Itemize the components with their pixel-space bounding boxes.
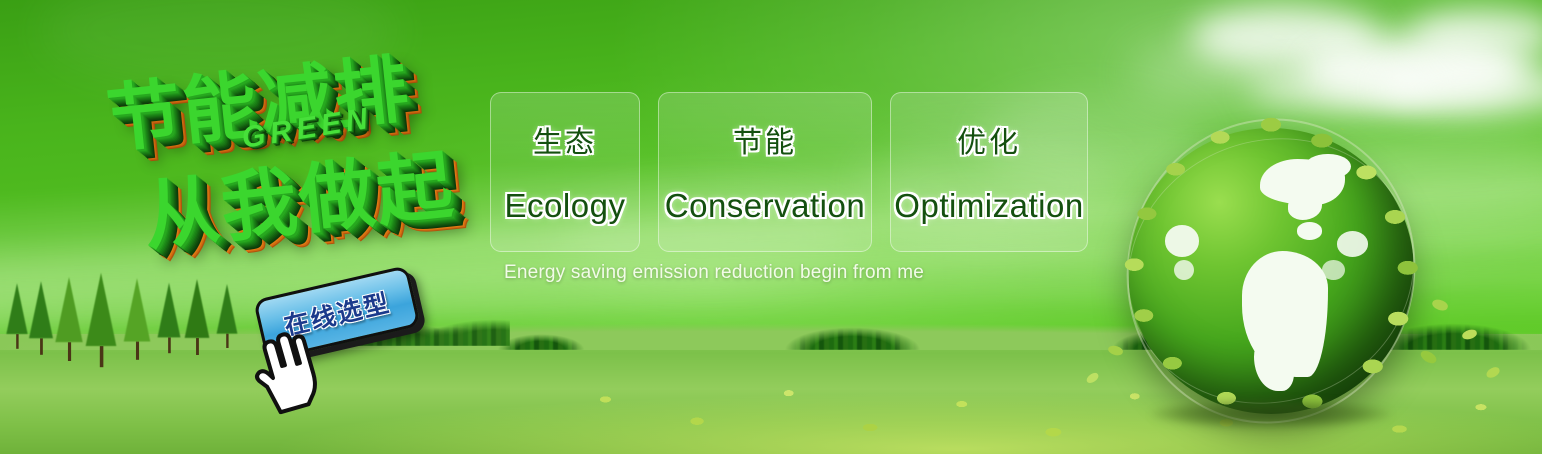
card-ecology[interactable]: 生态 Ecology (490, 92, 640, 252)
card-optimization-cn: 优化 (957, 119, 1021, 161)
card-ecology-en: Ecology (505, 187, 626, 225)
card-conservation-cn: 节能 (733, 119, 797, 161)
card-ecology-cn: 生态 (533, 119, 597, 161)
online-selection-label: 在线选型 (280, 283, 393, 342)
leafy-earth-globe-icon (1128, 128, 1414, 414)
card-optimization-en: Optimization (894, 187, 1083, 225)
feature-cards: 生态 Ecology 节能 Conservation 优化 Optimizati… (490, 92, 1088, 252)
card-conservation-en: Conservation (665, 187, 865, 225)
green-energy-banner: 节能减排 GREEN 从我做起 在线选型 生态 Ecology 节能 Conse… (0, 0, 1542, 454)
card-optimization[interactable]: 优化 Optimization (890, 92, 1088, 252)
globe-sphere (1128, 128, 1414, 414)
globe-shadow-base (1151, 400, 1391, 428)
tagline: Energy saving emission reduction begin f… (504, 262, 924, 284)
card-conservation[interactable]: 节能 Conservation (658, 92, 872, 252)
main-headline: 节能减排 GREEN 从我做起 (85, 13, 528, 296)
